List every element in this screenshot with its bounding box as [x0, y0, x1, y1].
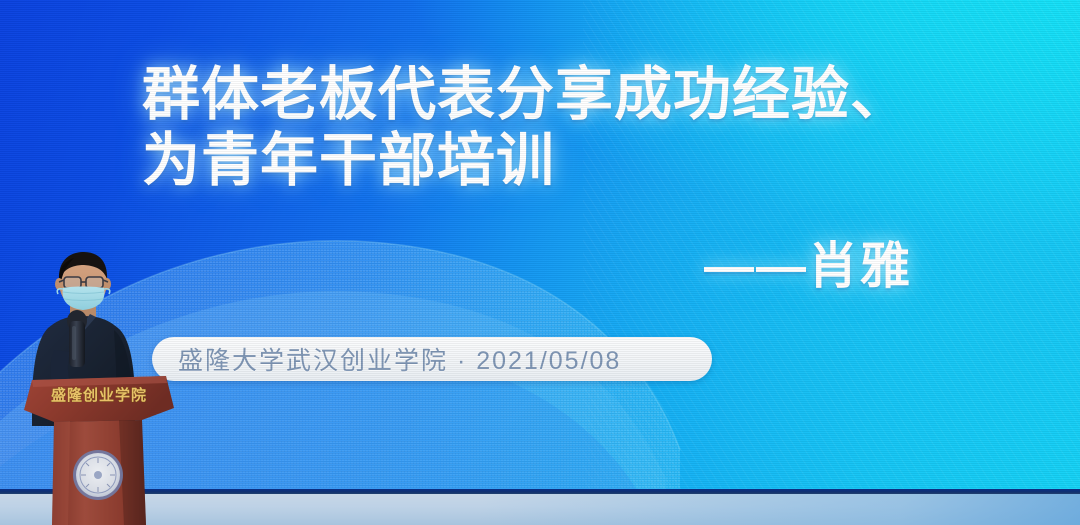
info-bar-text: 盛隆大学武汉创业学院 · 2021/05/08	[178, 341, 621, 377]
podium-nameplate-text: 盛隆创业学院	[51, 386, 147, 404]
podium: 盛隆创业学院	[24, 374, 174, 525]
presentation-headline: 群体老板代表分享成功经验、 为青年干部培训	[142, 62, 1072, 194]
photo-scene: 群体老板代表分享成功经验、 为青年干部培训 ——肖雅 盛隆大学武汉创业学院 · …	[0, 0, 1080, 525]
handheld-microphone	[60, 308, 94, 378]
info-bar: 盛隆大学武汉创业学院 · 2021/05/08	[152, 337, 712, 381]
podium-emblem	[73, 450, 123, 500]
speaker-credit: ——肖雅	[142, 236, 912, 296]
stage-floor-highlight	[480, 494, 1080, 525]
